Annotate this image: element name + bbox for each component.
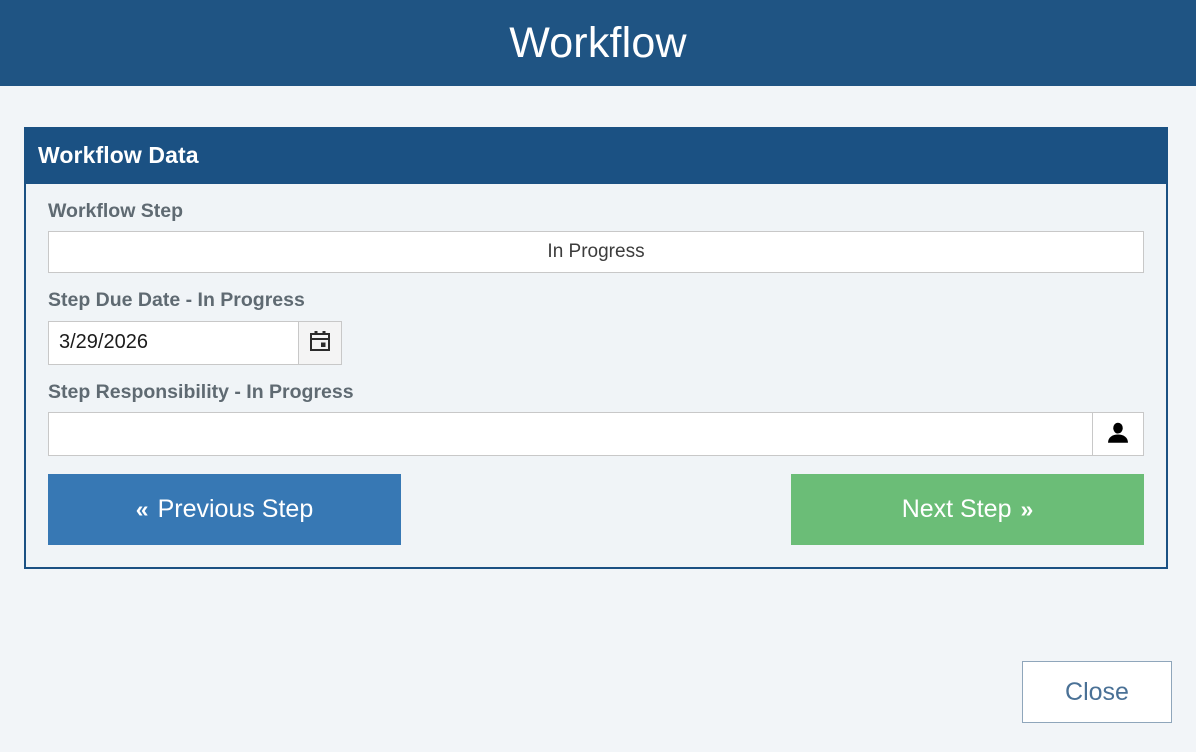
workflow-step-input[interactable] bbox=[48, 231, 1144, 273]
footer-actions: Close bbox=[0, 661, 1172, 723]
next-step-label: Next Step bbox=[902, 497, 1012, 522]
chevron-double-right-icon: » bbox=[1020, 498, 1033, 521]
previous-step-button[interactable]: « Previous Step bbox=[48, 474, 401, 545]
workflow-step-field: Workflow Step bbox=[48, 200, 1144, 273]
step-responsibility-label: Step Responsibility - In Progress bbox=[48, 381, 1144, 404]
chevron-double-left-icon: « bbox=[136, 498, 149, 521]
close-button[interactable]: Close bbox=[1022, 661, 1172, 723]
app-title: Workflow bbox=[509, 22, 687, 65]
calendar-picker-button[interactable] bbox=[298, 321, 342, 365]
step-due-date-field: Step Due Date - In Progress bbox=[48, 289, 1144, 364]
step-navigation-row: « Previous Step Next Step » bbox=[48, 474, 1144, 545]
panel-header-title: Workflow Data bbox=[38, 142, 199, 169]
app-banner: Workflow bbox=[0, 0, 1196, 86]
workflow-step-label: Workflow Step bbox=[48, 200, 1144, 223]
calendar-icon bbox=[308, 329, 332, 356]
person-picker-button[interactable] bbox=[1092, 412, 1144, 456]
panel-header: Workflow Data bbox=[24, 127, 1168, 184]
next-step-button[interactable]: Next Step » bbox=[791, 474, 1144, 545]
workflow-data-panel: Workflow Data Workflow Step Step Due Dat… bbox=[24, 127, 1168, 569]
step-responsibility-row bbox=[48, 412, 1144, 456]
step-responsibility-input[interactable] bbox=[48, 412, 1092, 456]
person-icon bbox=[1105, 420, 1131, 449]
step-due-date-label: Step Due Date - In Progress bbox=[48, 289, 1144, 312]
previous-step-label: Previous Step bbox=[158, 497, 314, 522]
step-responsibility-field: Step Responsibility - In Progress bbox=[48, 381, 1144, 456]
step-due-date-input[interactable] bbox=[48, 321, 298, 365]
panel-body: Workflow Step Step Due Date - In Progres… bbox=[26, 184, 1166, 567]
step-due-date-row bbox=[48, 321, 1144, 365]
